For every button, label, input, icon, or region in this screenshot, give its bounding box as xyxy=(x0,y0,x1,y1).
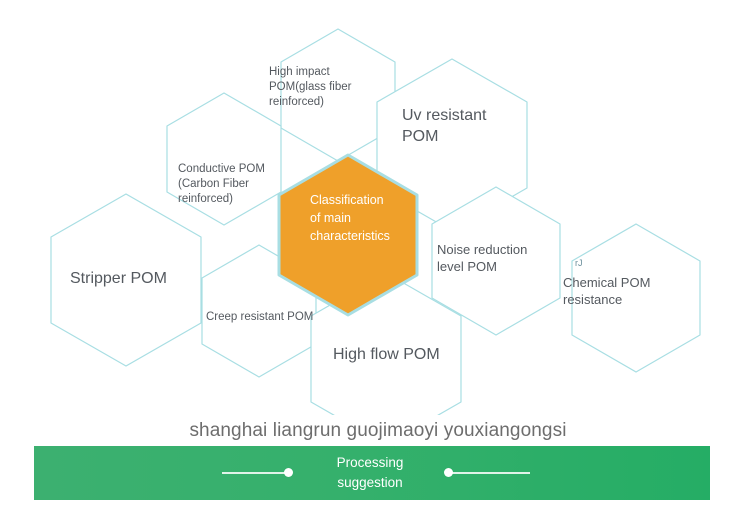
decoration-left-dot xyxy=(284,468,293,477)
decoration-right-line xyxy=(452,472,530,474)
hexagon-shape-chemical-pom[interactable] xyxy=(572,224,700,372)
hexagon-diagram: High impact POM(glass fiber reinforced) … xyxy=(0,0,756,415)
hexagon-shape-conductive-pom[interactable] xyxy=(167,93,281,225)
footer-banner: Processing suggestion xyxy=(34,446,710,500)
company-caption: shanghai liangrun guojimaoyi youxiangong… xyxy=(0,420,756,442)
tiny-mark-glyph: rJ xyxy=(575,258,583,268)
decoration-left xyxy=(222,468,302,478)
footer-banner-title: Processing suggestion xyxy=(310,453,430,492)
hexagon-outlines xyxy=(0,0,756,415)
decoration-right xyxy=(444,468,539,478)
decoration-left-line xyxy=(222,472,292,474)
infographic-canvas: High impact POM(glass fiber reinforced) … xyxy=(0,0,756,519)
hexagon-shape-stripper-pom[interactable] xyxy=(51,194,201,366)
